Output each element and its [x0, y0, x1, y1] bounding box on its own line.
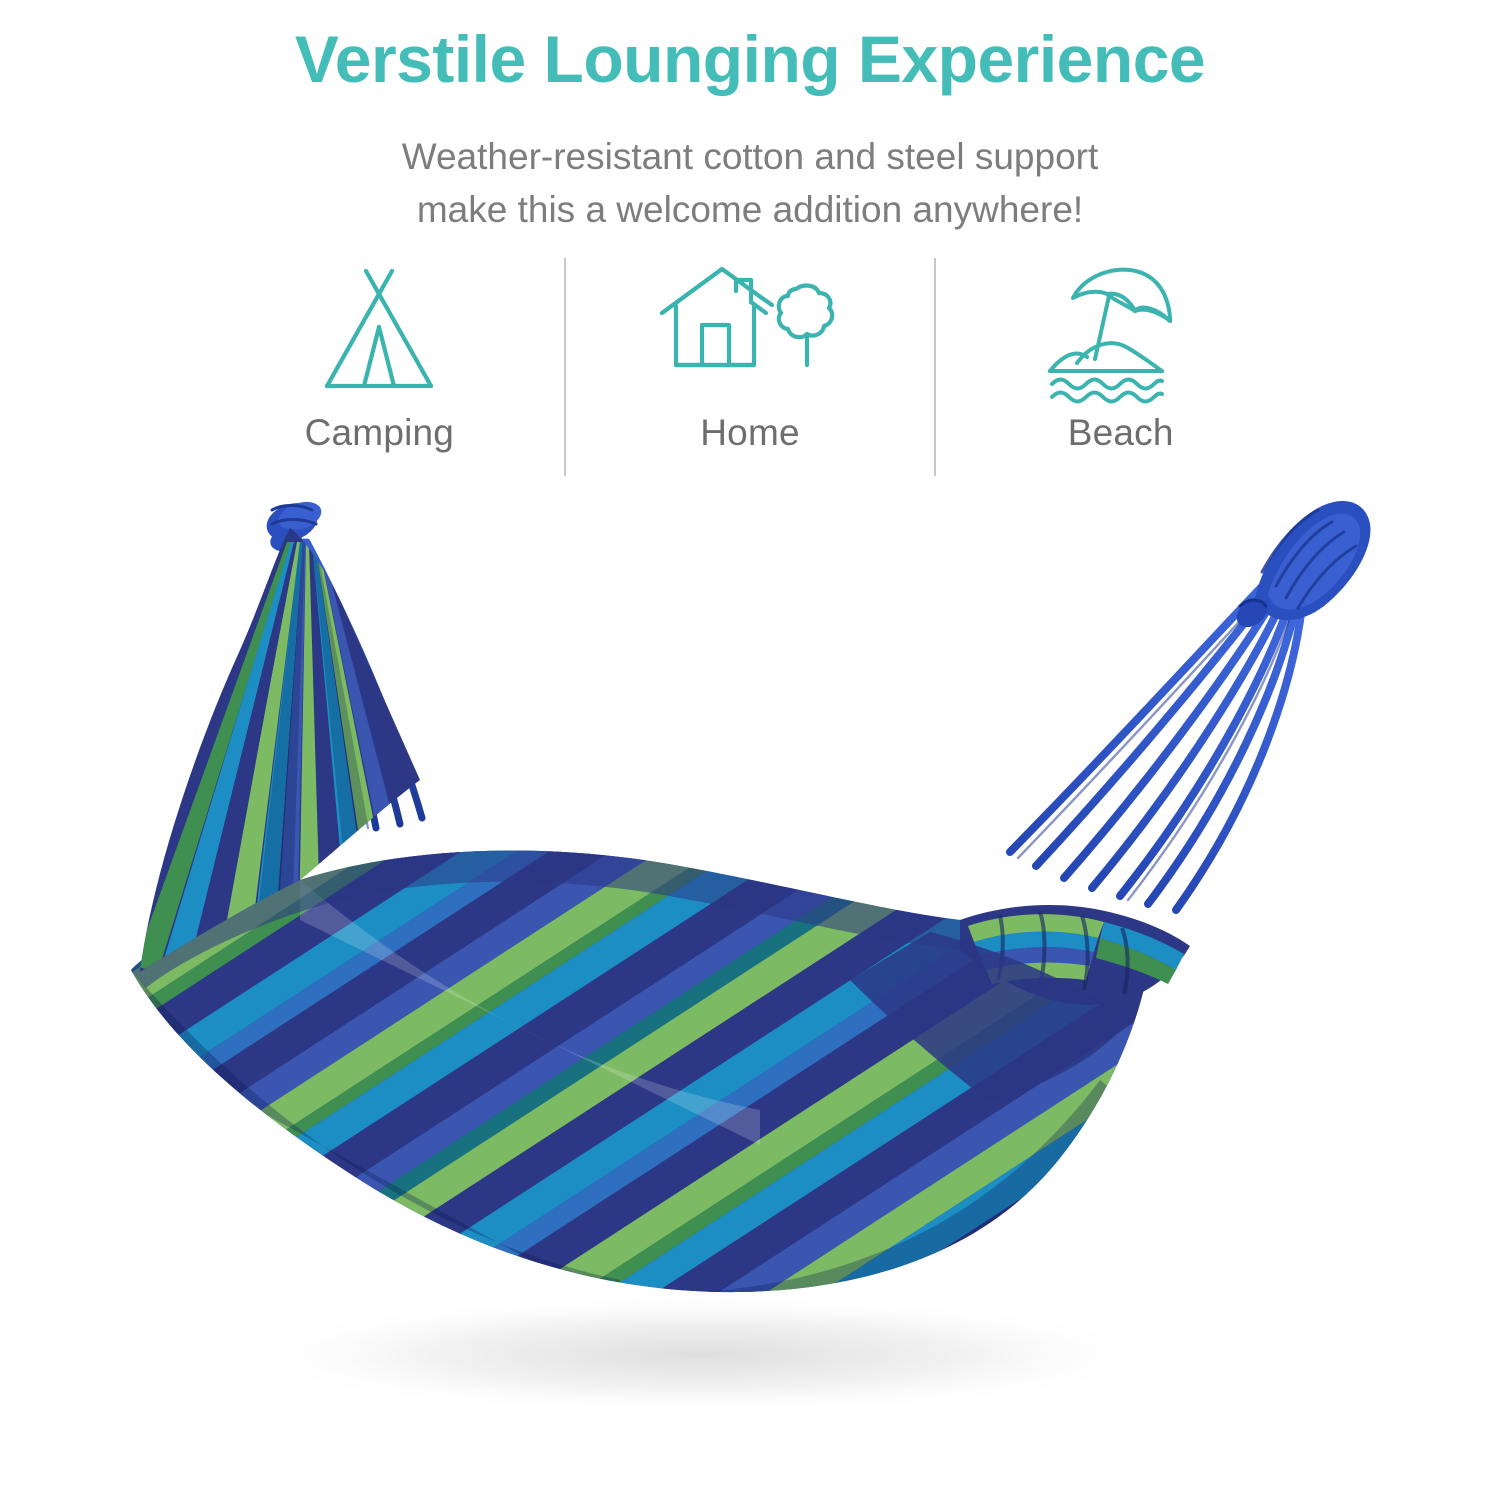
- product-image: [0, 480, 1500, 1500]
- feature-row: Camping: [195, 258, 1305, 476]
- infographic-page: Verstile Lounging Experience Weather-res…: [0, 0, 1500, 1500]
- page-title: Verstile Lounging Experience: [0, 24, 1500, 95]
- feature-beach: Beach: [936, 258, 1305, 476]
- feature-label-beach: Beach: [1068, 414, 1174, 451]
- feature-label-home: Home: [700, 414, 800, 451]
- subtitle-line-2: make this a welcome addition anywhere!: [0, 184, 1500, 237]
- beach-umbrella-icon: [1031, 258, 1211, 408]
- feature-label-camping: Camping: [305, 414, 454, 451]
- subtitle-line-1: Weather-resistant cotton and steel suppo…: [0, 131, 1500, 184]
- product-shadow: [230, 1295, 1170, 1415]
- tent-icon: [294, 258, 464, 408]
- page-subtitle: Weather-resistant cotton and steel suppo…: [0, 131, 1500, 236]
- feature-camping: Camping: [195, 258, 564, 476]
- house-tree-icon: [650, 258, 850, 408]
- right-rope-tip: [1231, 501, 1370, 633]
- right-rope-cluster: [1010, 501, 1370, 910]
- feature-home: Home: [566, 258, 935, 476]
